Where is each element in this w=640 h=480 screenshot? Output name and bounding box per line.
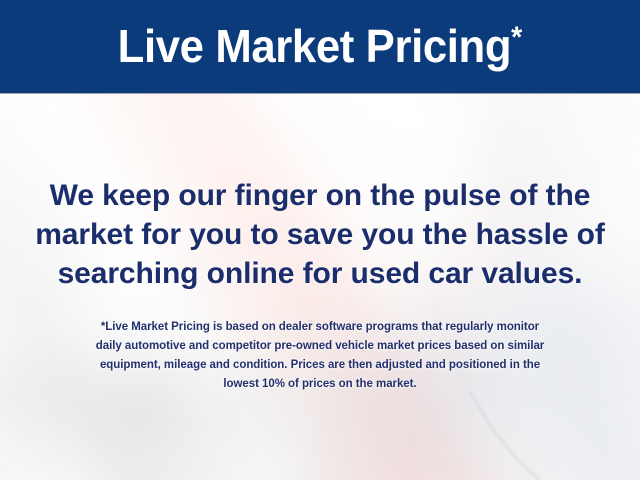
disclaimer-line-3: equipment, mileage and condition. Prices… [0, 356, 640, 375]
headline-line-1: We keep our finger on the pulse of the [0, 176, 640, 215]
headline: We keep our finger on the pulse of the m… [0, 176, 640, 293]
live-market-pricing-banner: Live Market Pricing* We keep our finger … [0, 0, 640, 480]
disclaimer-line-4: lowest 10% of prices on the market. [0, 375, 640, 394]
headline-line-2: market for you to save you the hassle of [0, 215, 640, 254]
disclaimer-text: *Live Market Pricing is based on dealer … [0, 318, 640, 394]
page-title-text: Live Market Pricing [118, 20, 512, 72]
disclaimer-line-2: daily automotive and competitor pre-owne… [0, 337, 640, 356]
page-title: Live Market Pricing* [118, 23, 523, 71]
header-banner: Live Market Pricing* [0, 0, 640, 93]
headline-line-3: searching online for used car values. [0, 254, 640, 293]
disclaimer-line-1: *Live Market Pricing is based on dealer … [0, 318, 640, 337]
title-asterisk: * [511, 21, 522, 54]
